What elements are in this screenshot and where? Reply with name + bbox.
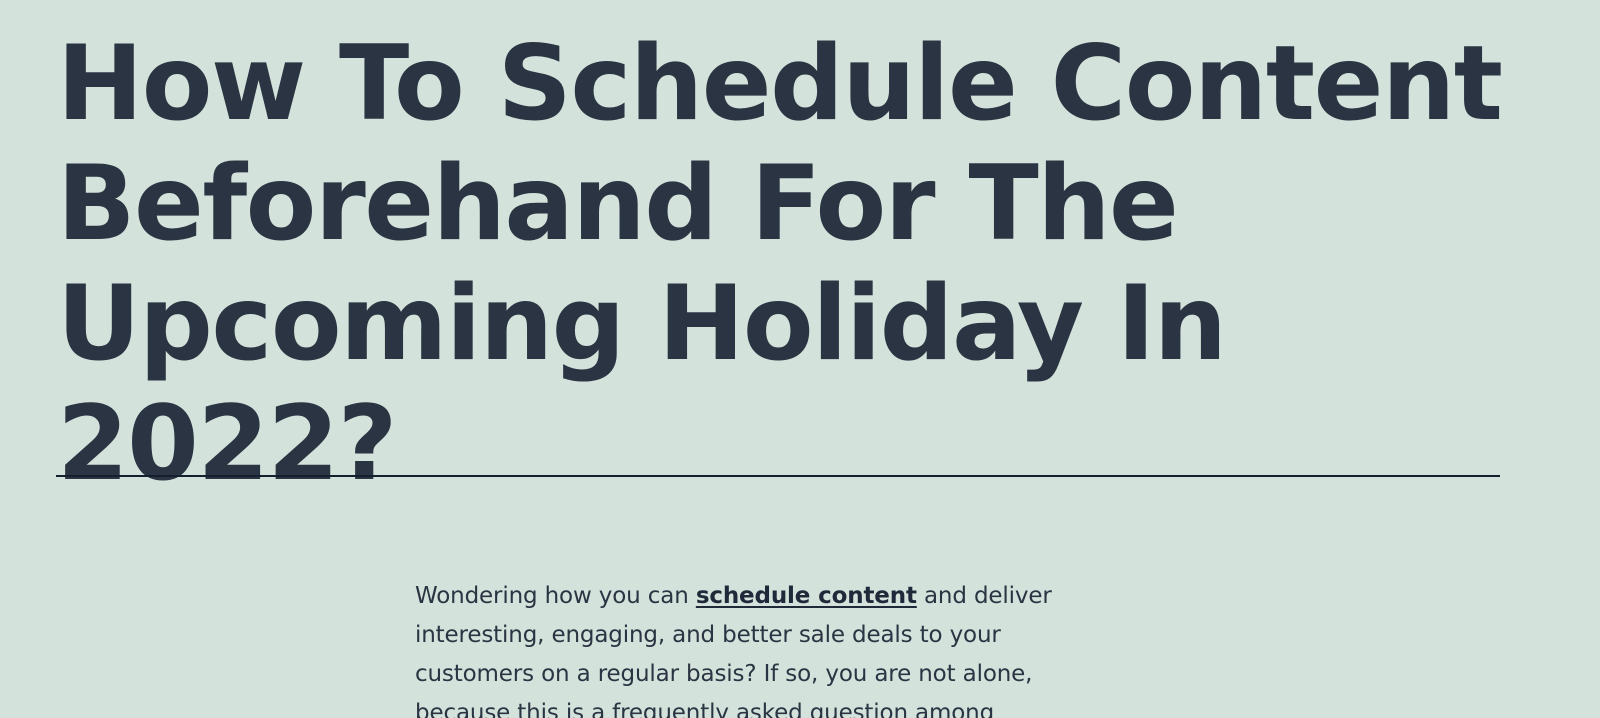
intro-paragraph: Wondering how you can schedule content a…	[415, 577, 1105, 718]
article-body: Wondering how you can schedule content a…	[415, 577, 1105, 718]
title-divider	[56, 475, 1500, 477]
schedule-content-link[interactable]: schedule content	[696, 583, 917, 609]
article-page: How To Schedule Content Beforehand For T…	[0, 0, 1600, 718]
article-header: How To Schedule Content Beforehand For T…	[57, 24, 1517, 504]
paragraph-lead-text: Wondering how you can	[415, 583, 696, 609]
page-title: How To Schedule Content Beforehand For T…	[57, 24, 1517, 504]
